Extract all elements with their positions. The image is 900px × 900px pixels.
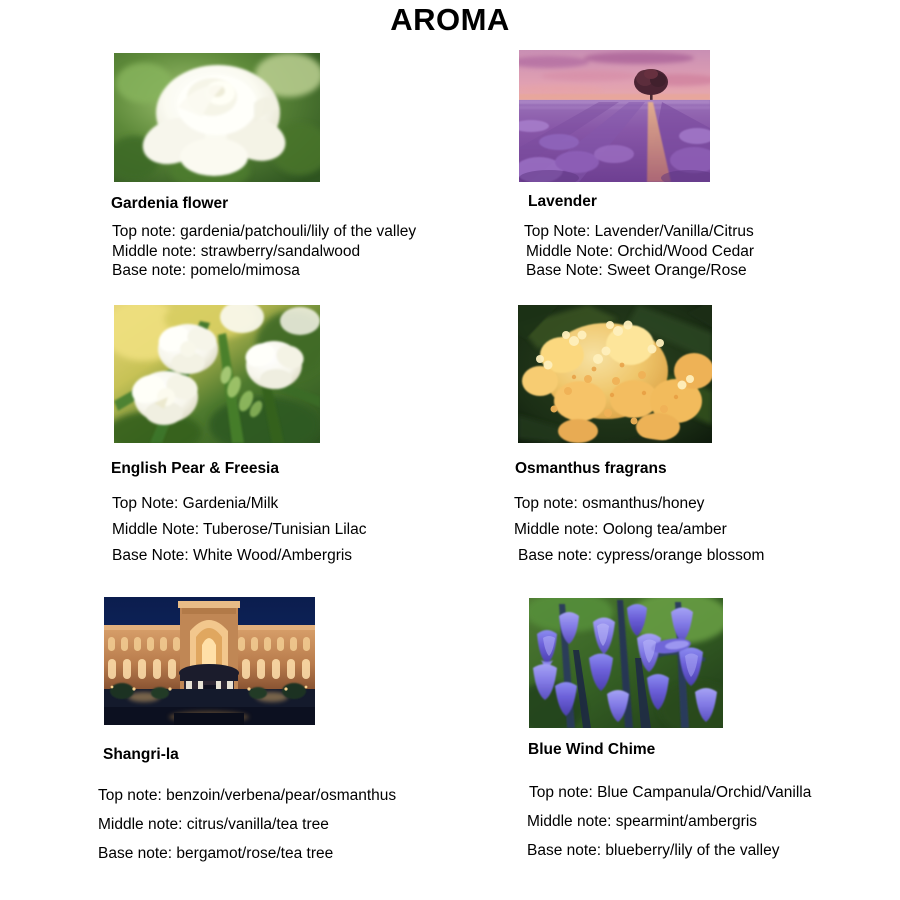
card-title-lavender: Lavender — [528, 193, 597, 211]
page-title: AROMA — [0, 2, 900, 38]
gardenia-flower-photo — [114, 53, 320, 182]
note-middle: Middle Note: Tuberose/Tunisian Lilac — [112, 517, 366, 543]
note-middle: Middle note: spearmint/ambergris — [527, 807, 811, 836]
osmanthus-flower-photo — [518, 305, 712, 443]
notes-gardenia: Top note: gardenia/patchouli/lily of the… — [112, 222, 416, 281]
note-base: Base note: bergamot/rose/tea tree — [98, 839, 396, 868]
note-base: Base note: blueberry/lily of the valley — [527, 836, 811, 865]
card-title-gardenia: Gardenia flower — [111, 195, 228, 213]
note-top: Top note: osmanthus/honey — [514, 491, 764, 517]
note-middle: Middle note: Oolong tea/amber — [514, 517, 764, 543]
freesia-flower-photo — [114, 305, 320, 443]
note-base: Base note: cypress/orange blossom — [514, 543, 764, 569]
note-top: Top note: gardenia/patchouli/lily of the… — [112, 222, 416, 242]
note-base: Base Note: Sweet Orange/Rose — [524, 261, 754, 281]
note-top: Top Note: Lavender/Vanilla/Citrus — [524, 222, 754, 242]
note-middle: Middle note: citrus/vanilla/tea tree — [98, 810, 396, 839]
card-title-freesia: English Pear & Freesia — [111, 460, 279, 478]
note-middle: Middle Note: Orchid/Wood Cedar — [524, 242, 754, 262]
note-top: Top note: Blue Campanula/Orchid/Vanilla — [527, 778, 811, 807]
lavender-field-photo — [519, 50, 710, 182]
notes-bluewind: Top note: Blue Campanula/Orchid/Vanilla … — [527, 778, 811, 865]
notes-shangrila: Top note: benzoin/verbena/pear/osmanthus… — [98, 781, 396, 868]
card-title-osmanthus: Osmanthus fragrans — [515, 460, 667, 478]
notes-freesia: Top Note: Gardenia/Milk Middle Note: Tub… — [112, 491, 366, 569]
note-top: Top note: benzoin/verbena/pear/osmanthus — [98, 781, 396, 810]
card-title-shangrila: Shangri-la — [103, 746, 179, 764]
shangrila-hotel-photo — [104, 597, 315, 725]
card-title-bluewind: Blue Wind Chime — [528, 741, 655, 759]
note-top: Top Note: Gardenia/Milk — [112, 491, 366, 517]
note-base: Base note: pomelo/mimosa — [112, 261, 416, 281]
notes-osmanthus: Top note: osmanthus/honey Middle note: O… — [514, 491, 764, 569]
note-base: Base Note: White Wood/Ambergris — [112, 543, 366, 569]
bluebell-flower-photo — [529, 598, 723, 728]
note-middle: Middle note: strawberry/sandalwood — [112, 242, 416, 262]
notes-lavender: Top Note: Lavender/Vanilla/Citrus Middle… — [524, 222, 754, 281]
